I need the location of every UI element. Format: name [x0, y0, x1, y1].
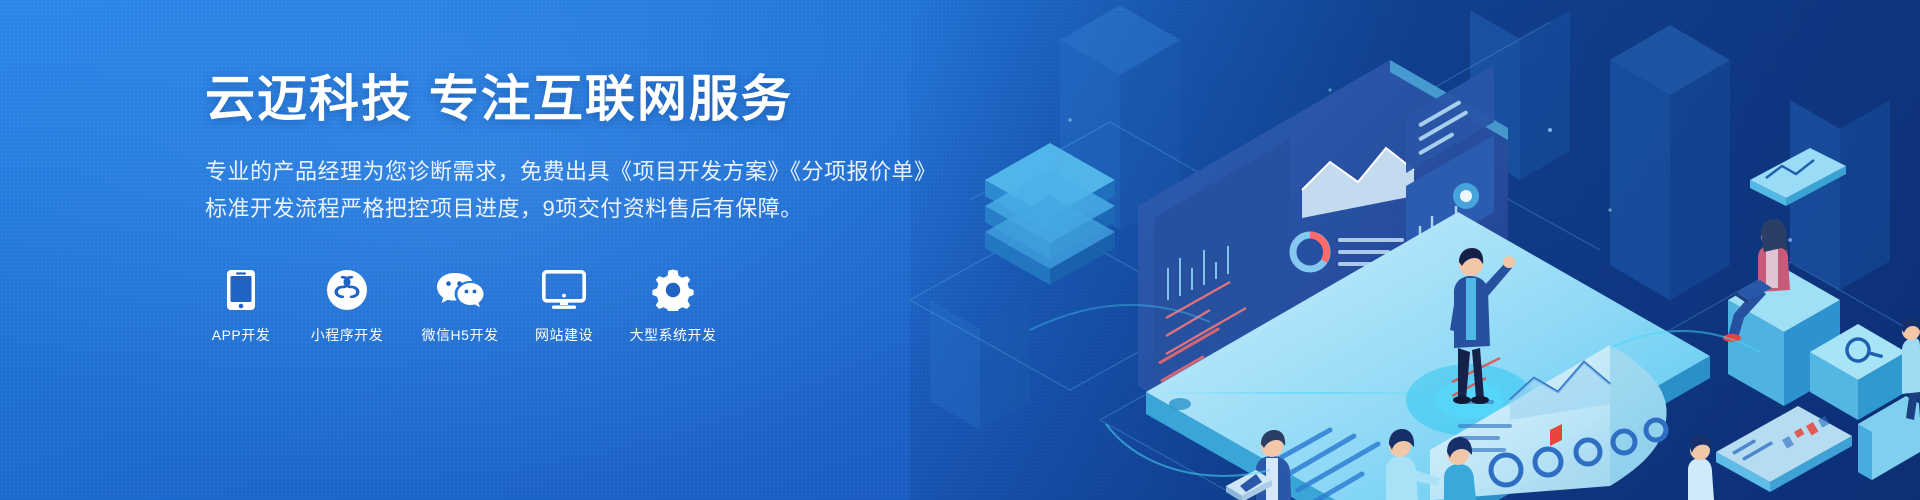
- banner-subtitle-line-2: 标准开发流程严格把控项目进度，9项交付资料售后有保障。: [205, 190, 1065, 228]
- banner-content: 云迈科技 专注互联网服务 专业的产品经理为您诊断需求，免费出具《项目开发方案》《…: [205, 68, 1065, 345]
- service-label: APP开发: [205, 325, 277, 345]
- service-list: APP开发 小程序开发: [205, 268, 1065, 345]
- bottom-right-data-card: [1716, 406, 1852, 492]
- mobile-phone-icon: [205, 268, 277, 312]
- mini-program-icon: [305, 268, 389, 312]
- service-item-large-system-development[interactable]: 大型系统开发: [625, 268, 721, 345]
- hero-banner: 云迈科技 专注互联网服务 专业的产品经理为您诊断需求，免费出具《项目开发方案》《…: [0, 0, 1920, 500]
- wechat-icon: [417, 268, 503, 312]
- service-label: 网站建设: [531, 325, 597, 345]
- banner-subtitle-line-1: 专业的产品经理为您诊断需求，免费出具《项目开发方案》《分项报价单》: [205, 153, 1065, 191]
- service-item-website-construction[interactable]: 网站建设: [531, 268, 597, 345]
- gear-icon: [625, 268, 721, 312]
- service-item-app-development[interactable]: APP开发: [205, 268, 277, 345]
- service-item-wechat-h5-development[interactable]: 微信H5开发: [417, 268, 503, 345]
- service-label: 大型系统开发: [625, 325, 721, 345]
- service-label: 微信H5开发: [417, 325, 503, 345]
- service-item-mini-program-development[interactable]: 小程序开发: [305, 268, 389, 345]
- service-label: 小程序开发: [305, 325, 389, 345]
- banner-title: 云迈科技 专注互联网服务: [205, 68, 1065, 131]
- monitor-icon: [531, 268, 597, 312]
